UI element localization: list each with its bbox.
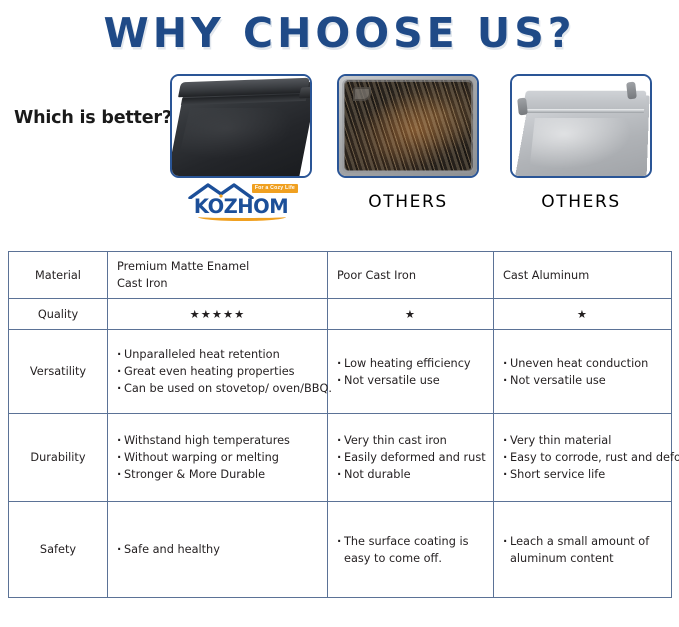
list-item: Very thin material bbox=[503, 432, 662, 449]
cell-line: Cast Iron bbox=[117, 275, 318, 292]
table-row-durability: Durability Withstand high temperatures W… bbox=[9, 414, 672, 502]
list-item: Low heating efficiency bbox=[337, 355, 484, 372]
others-caption-1: OTHERS bbox=[337, 184, 479, 220]
cell-material-others-2: Cast Aluminum bbox=[494, 252, 672, 299]
row-head-quality: Quality bbox=[9, 299, 108, 330]
cell-versatility-others-1: Low heating efficiency Not versatile use bbox=[328, 330, 494, 414]
star-rating-kozhom: ★★★★★ bbox=[108, 299, 328, 330]
cell-safety-others-2: Leach a small amount of aluminum content bbox=[494, 502, 672, 598]
brand-swoosh-icon bbox=[198, 213, 286, 221]
product-image-frame-others-1 bbox=[337, 74, 479, 178]
list-item: Short service life bbox=[503, 466, 662, 483]
others-label-2: OTHERS bbox=[541, 192, 621, 212]
star-rating-others-2: ★ bbox=[494, 299, 672, 330]
cell-safety-kozhom: Safe and healthy bbox=[108, 502, 328, 598]
brand-caption: For a Cozy Life KOZHOM bbox=[170, 184, 312, 220]
table-row-safety: Safety Safe and healthy The surface coat… bbox=[9, 502, 672, 598]
cell-durability-others-1: Very thin cast iron Easily deformed and … bbox=[328, 414, 494, 502]
table-row-quality: Quality ★★★★★ ★ ★ bbox=[9, 299, 672, 330]
kozhom-logo: For a Cozy Life KOZHOM bbox=[182, 183, 300, 221]
row-head-safety: Safety bbox=[9, 502, 108, 598]
row-head-material: Material bbox=[9, 252, 108, 299]
row-head-versatility: Versatility bbox=[9, 330, 108, 414]
cell-durability-kozhom: Withstand high temperatures Without warp… bbox=[108, 414, 328, 502]
cell-material-others-1: Poor Cast Iron bbox=[328, 252, 494, 299]
page-header: WHY CHOOSE US? bbox=[0, 0, 679, 62]
product-card-others-2: OTHERS bbox=[510, 74, 652, 220]
table-row-versatility: Versatility Unparalleled heat retention … bbox=[9, 330, 672, 414]
star-rating-others-1: ★ bbox=[328, 299, 494, 330]
product-image-frame-kozhom bbox=[170, 74, 312, 178]
list-item: Without warping or melting bbox=[117, 449, 318, 466]
product-card-kozhom: For a Cozy Life KOZHOM bbox=[170, 74, 312, 220]
product-image-frame-others-2 bbox=[510, 74, 652, 178]
list-item: Not durable bbox=[337, 466, 484, 483]
comparison-table-wrap: Material Premium Matte Enamel Cast Iron … bbox=[8, 251, 671, 598]
cell-versatility-others-2: Uneven heat conduction Not versatile use bbox=[494, 330, 672, 414]
brand-tagline: For a Cozy Life bbox=[252, 184, 298, 193]
list-item: Easy to corrode, rust and deform bbox=[503, 449, 662, 466]
others-caption-2: OTHERS bbox=[510, 184, 652, 220]
cell-safety-others-1: The surface coating is easy to come off. bbox=[328, 502, 494, 598]
list-item: Not versatile use bbox=[503, 372, 662, 389]
list-item: Stronger & More Durable bbox=[117, 466, 318, 483]
others-label-1: OTHERS bbox=[368, 192, 448, 212]
product-card-others-1: OTHERS bbox=[337, 74, 479, 220]
product-comparison-row: Which is better? For a Cozy Life KOZHOM bbox=[0, 62, 679, 240]
list-item: Easily deformed and rust bbox=[337, 449, 484, 466]
list-item: Great even heating properties bbox=[117, 363, 318, 380]
list-item: Very thin cast iron bbox=[337, 432, 484, 449]
list-item: Leach a small amount of aluminum content bbox=[503, 533, 662, 567]
comparison-table: Material Premium Matte Enamel Cast Iron … bbox=[8, 251, 672, 598]
cell-versatility-kozhom: Unparalleled heat retention Great even h… bbox=[108, 330, 328, 414]
list-item: Uneven heat conduction bbox=[503, 355, 662, 372]
list-item: Safe and healthy bbox=[117, 541, 318, 558]
aluminum-tray-image bbox=[512, 76, 650, 176]
which-is-better-label: Which is better? bbox=[14, 108, 172, 128]
list-item: Not versatile use bbox=[337, 372, 484, 389]
list-item: Withstand high temperatures bbox=[117, 432, 318, 449]
row-head-durability: Durability bbox=[9, 414, 108, 502]
cell-durability-others-2: Very thin material Easy to corrode, rust… bbox=[494, 414, 672, 502]
list-item: The surface coating is easy to come off. bbox=[337, 533, 484, 567]
cell-line: Premium Matte Enamel bbox=[117, 258, 318, 275]
list-item: Can be used on stovetop/ oven/BBQ. bbox=[117, 380, 318, 397]
table-row-material: Material Premium Matte Enamel Cast Iron … bbox=[9, 252, 672, 299]
list-item: Unparalleled heat retention bbox=[117, 346, 318, 363]
page-title: WHY CHOOSE US? bbox=[103, 9, 575, 57]
cell-material-kozhom: Premium Matte Enamel Cast Iron bbox=[108, 252, 328, 299]
griddle-image bbox=[170, 74, 312, 178]
rusty-grill-pan-image bbox=[339, 76, 477, 176]
